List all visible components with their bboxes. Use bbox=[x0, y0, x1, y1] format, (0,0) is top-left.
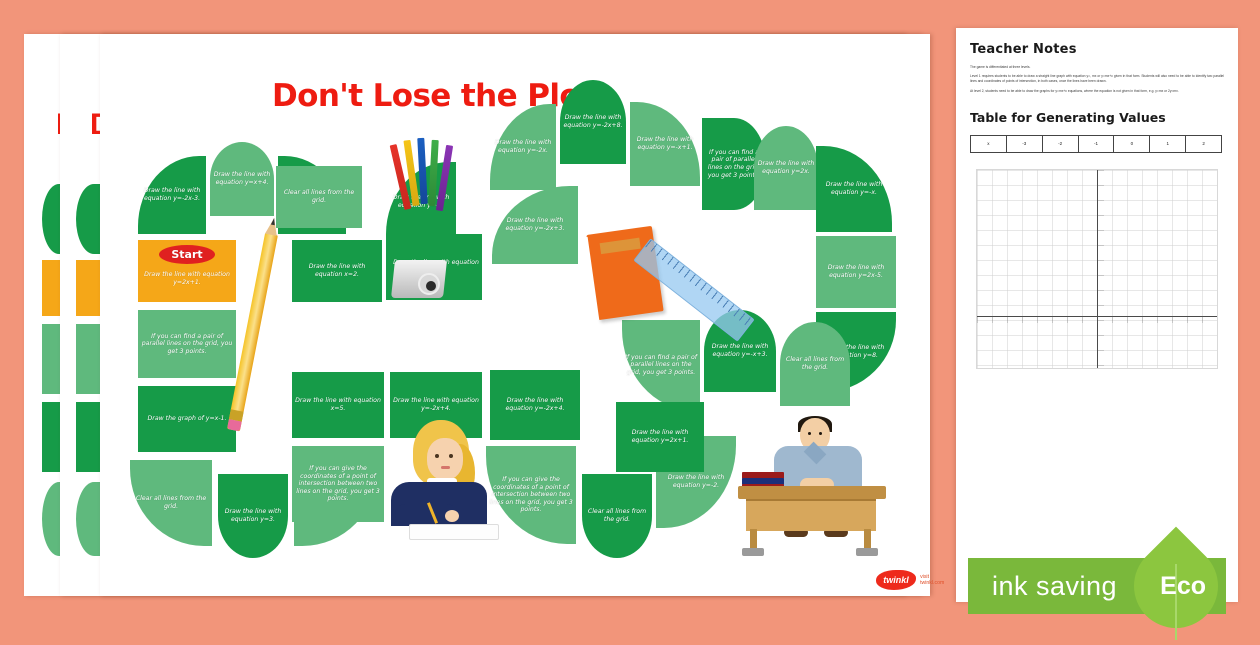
teacher-at-desk-illustration bbox=[738, 416, 886, 556]
board-tile-t26[interactable]: Draw the line with equation y=-x+1. bbox=[630, 102, 700, 186]
values-cell: -3 bbox=[1007, 136, 1043, 152]
notes-title: Teacher Notes bbox=[970, 42, 1224, 57]
game-board: Don't Lose the Plot Draw the line with e… bbox=[100, 34, 930, 596]
girl-writing-illustration bbox=[387, 416, 497, 536]
page-root: D D Don't Lose the Plot Draw the line wi… bbox=[0, 0, 1260, 630]
board-tile-start[interactable]: Start Draw the line with equation y=2x+1… bbox=[138, 240, 236, 302]
board-tile-t25[interactable]: Draw the line with equation y=-2x+8. bbox=[560, 80, 626, 164]
board-tile-t19b[interactable]: Clear all lines from the grid. bbox=[780, 322, 850, 406]
board-tile-t08[interactable]: Draw the line with equation y=-2x-3. bbox=[138, 156, 206, 234]
eco-label: Eco bbox=[1160, 572, 1206, 601]
values-cell: 0 bbox=[1114, 136, 1150, 152]
coordinate-grid bbox=[976, 169, 1218, 369]
board-tile-t15[interactable]: If you can give the coordinates of a poi… bbox=[292, 446, 384, 522]
board-tile-t13b[interactable]: Draw the line with equation x=5. bbox=[292, 372, 384, 438]
board-tile-t24[interactable]: Draw the line with equation y=-2x. bbox=[490, 104, 556, 190]
board-tile-t23b[interactable]: Draw the line with equation y=-2x+3. bbox=[492, 186, 578, 264]
notes-paragraph-2: Level 1 requires students to be able to … bbox=[970, 74, 1224, 84]
teacher-notes-sheet: Teacher Notes The game is differentiated… bbox=[956, 28, 1238, 602]
start-badge: Start bbox=[158, 244, 216, 265]
eco-badge-text: ink saving bbox=[968, 571, 1117, 602]
board-tile-t15b[interactable]: If you can give the coordinates of a poi… bbox=[486, 446, 576, 544]
board-tile-t29[interactable]: Draw the line with equation y=-x. bbox=[816, 146, 892, 232]
values-cell: x bbox=[971, 136, 1007, 152]
board-tile-t11b[interactable]: Clear all lines from the grid. bbox=[276, 166, 362, 228]
board-tile-t02[interactable]: Draw the graph of y=x-1. bbox=[138, 386, 236, 452]
pencil-sharpener-illustration bbox=[393, 260, 445, 298]
board-tile-t03[interactable]: Clear all lines from the grid. bbox=[130, 460, 212, 546]
table-title: Table for Generating Values bbox=[970, 110, 1224, 125]
values-table: x -3 -2 -1 0 1 2 bbox=[970, 135, 1222, 153]
board-tile-t04[interactable]: Draw the line with equation y=3. bbox=[218, 474, 288, 558]
twinkl-logo: twinkl bbox=[876, 570, 916, 590]
board-tile-t30[interactable]: Draw the line with equation y=2x-5. bbox=[816, 236, 896, 308]
board-tile-t09[interactable]: Draw the line with equation y=x+4. bbox=[210, 142, 274, 216]
values-cell: 2 bbox=[1186, 136, 1221, 152]
values-cell: -1 bbox=[1079, 136, 1115, 152]
board-tile-t01[interactable]: If you can find a pair of parallel lines… bbox=[138, 310, 236, 378]
coloured-pencils-illustration bbox=[397, 136, 459, 208]
y-axis-ticks bbox=[1097, 170, 1104, 368]
board-tile-t18[interactable]: Draw the line with equation y=2x+1. bbox=[616, 402, 704, 472]
board-tile-t07[interactable]: Draw the line with equation x=2. bbox=[292, 240, 382, 302]
board-tile-t28[interactable]: Draw the line with equation y=2x. bbox=[754, 126, 818, 210]
twinkl-url: visit twinkl.com bbox=[920, 574, 950, 586]
board-tile-t14b[interactable]: Draw the line with equation y=-2x+4. bbox=[490, 370, 580, 440]
twinkl-branding: twinkl visit twinkl.com bbox=[876, 570, 950, 590]
board-tile-t16[interactable]: Clear all lines from the grid. bbox=[582, 474, 652, 558]
notes-paragraph-1: The game is differentiated at three leve… bbox=[970, 65, 1224, 70]
notes-paragraph-3: At level 2, students need to be able to … bbox=[970, 89, 1224, 94]
ink-saving-eco-badge: ink saving Eco bbox=[968, 558, 1226, 614]
board-tile-t21[interactable]: If you can find a pair of parallel lines… bbox=[622, 320, 700, 410]
values-cell: 1 bbox=[1150, 136, 1186, 152]
values-cell: -2 bbox=[1043, 136, 1079, 152]
